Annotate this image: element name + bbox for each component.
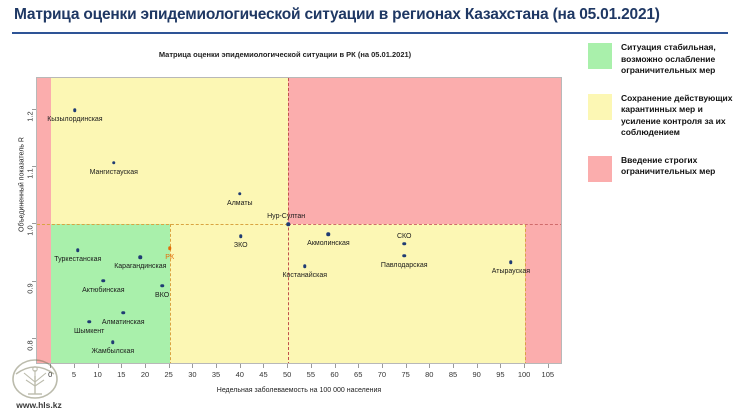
x-tick-label: 30: [188, 370, 196, 379]
x-tick: [500, 364, 501, 368]
data-point-label: Мангистауская: [90, 169, 138, 176]
data-point[interactable]: [509, 261, 513, 265]
y-tick-label: 1.2: [26, 108, 35, 124]
data-point-label: Жамбылская: [91, 348, 134, 355]
data-point[interactable]: [303, 265, 307, 269]
x-tick-label: 60: [330, 370, 338, 379]
data-point[interactable]: [102, 279, 106, 283]
data-point-label: Акмолинская: [307, 240, 350, 247]
legend-item-red: Введение строгих ограничительных мер: [588, 155, 736, 182]
data-point[interactable]: [87, 320, 91, 324]
data-point-label: Алматы: [227, 200, 253, 207]
legend-label-yellow: Сохранение действующих карантинных мер и…: [621, 93, 733, 139]
x-tick-label: 90: [473, 370, 481, 379]
x-tick-label: 80: [425, 370, 433, 379]
x-tick-label: 15: [117, 370, 125, 379]
legend-item-yellow: Сохранение действующих карантинных мер и…: [588, 93, 736, 139]
legend-label-red: Введение строгих ограничительных мер: [621, 155, 733, 178]
x-tick-label: 100: [518, 370, 531, 379]
x-tick-label: 95: [496, 370, 504, 379]
x-tick-label: 10: [93, 370, 101, 379]
x-tick: [453, 364, 454, 368]
x-tick: [192, 364, 193, 368]
data-point-label: Костанайская: [282, 272, 327, 279]
data-point-label: ЗКО: [234, 242, 248, 249]
data-point[interactable]: [160, 284, 164, 288]
data-point[interactable]: [121, 311, 125, 315]
page-title: Матрица оценки эпидемиологической ситуац…: [14, 6, 660, 24]
data-point-label: Павлодарская: [381, 262, 428, 269]
x-tick-label: 65: [354, 370, 362, 379]
organization-logo-icon: [10, 358, 60, 400]
x-tick-label: 105: [542, 370, 555, 379]
data-point-label: ВКО: [155, 292, 169, 299]
slide-header: Матрица оценки эпидемиологической ситуац…: [0, 0, 740, 36]
data-point[interactable]: [112, 161, 116, 165]
legend-label-green: Ситуация стабильная, возможно ослабление…: [621, 42, 733, 77]
legend: Ситуация стабильная, возможно ослабление…: [588, 42, 736, 198]
y-tick-label: 1.1: [26, 165, 35, 181]
x-tick-label: 25: [165, 370, 173, 379]
x-tick: [145, 364, 146, 368]
data-point-label: Карагандинская: [114, 263, 166, 270]
x-tick: [335, 364, 336, 368]
site-url-label: www.hls.kz: [2, 400, 76, 410]
x-tick-label: 50: [283, 370, 291, 379]
y-tick-label: 1.0: [26, 223, 35, 239]
data-point-label: Атырауская: [492, 268, 530, 275]
data-point[interactable]: [168, 247, 172, 251]
x-tick: [169, 364, 170, 368]
legend-item-green: Ситуация стабильная, возможно ослабление…: [588, 42, 736, 77]
x-tick-label: 35: [212, 370, 220, 379]
data-point[interactable]: [111, 340, 115, 344]
x-tick-label: 70: [378, 370, 386, 379]
data-point[interactable]: [239, 235, 243, 239]
x-tick-label: 45: [259, 370, 267, 379]
chart-container: Матрица оценки эпидемиологической ситуац…: [0, 36, 580, 417]
chart-plot-area: КызылординскаяМангистаускаяАлматыНур-Сул…: [36, 77, 562, 364]
x-tick: [382, 364, 383, 368]
data-point-label: Туркестанская: [54, 256, 101, 263]
data-point[interactable]: [403, 242, 407, 246]
data-point[interactable]: [238, 192, 242, 196]
data-point-label: Кызылординская: [47, 116, 102, 123]
y-tick-label: 0.9: [26, 280, 35, 296]
x-tick: [216, 364, 217, 368]
x-axis-title: Недельная заболеваемость на 100 000 насе…: [36, 387, 562, 394]
data-point[interactable]: [286, 223, 290, 227]
x-tick: [406, 364, 407, 368]
x-tick: [121, 364, 122, 368]
data-point-label: Алматинская: [102, 319, 145, 326]
data-point[interactable]: [139, 255, 143, 259]
data-point[interactable]: [327, 232, 331, 236]
legend-swatch-yellow-icon: [588, 94, 612, 120]
x-tick-label: 20: [141, 370, 149, 379]
x-tick: [524, 364, 525, 368]
data-point-label: СКО: [397, 233, 412, 240]
x-tick: [358, 364, 359, 368]
x-tick-label: 85: [449, 370, 457, 379]
header-divider: [12, 32, 728, 34]
data-point[interactable]: [73, 108, 77, 112]
x-tick: [240, 364, 241, 368]
x-tick-label: 55: [307, 370, 315, 379]
data-point-label: Нур-Султан: [267, 213, 305, 220]
x-tick-label: 40: [236, 370, 244, 379]
y-axis-title: Объединенный показатель R: [19, 115, 26, 255]
data-point-label: Шымкент: [74, 328, 104, 335]
legend-swatch-green-icon: [588, 43, 612, 69]
data-point[interactable]: [403, 254, 407, 258]
x-tick: [311, 364, 312, 368]
x-tick: [477, 364, 478, 368]
x-tick: [287, 364, 288, 368]
data-point-label: РК: [165, 254, 174, 261]
data-point-label: Актюбинская: [82, 287, 124, 294]
x-tick: [98, 364, 99, 368]
y-tick-label: 0.8: [26, 338, 35, 354]
x-tick: [429, 364, 430, 368]
legend-swatch-red-icon: [588, 156, 612, 182]
data-point[interactable]: [76, 248, 80, 252]
x-tick: [548, 364, 549, 368]
x-tick: [263, 364, 264, 368]
x-tick-label: 75: [401, 370, 409, 379]
chart-title: Матрица оценки эпидемиологической ситуац…: [0, 50, 570, 59]
watermark: www.hls.kz: [2, 358, 76, 415]
